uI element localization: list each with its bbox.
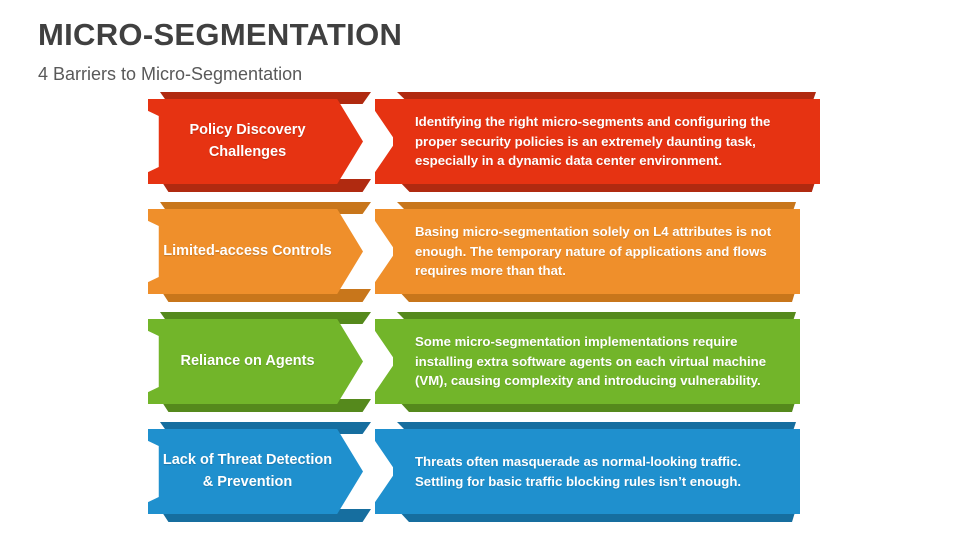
barrier-row: Lack of Threat Detection & PreventionThr…: [0, 421, 960, 531]
barrier-label-block[interactable]: Limited-access Controls: [148, 209, 363, 294]
barrier-description-text: Identifying the right micro-segments and…: [403, 112, 820, 171]
barrier-description-text: Threats often masquerade as normal-looki…: [403, 452, 800, 492]
chevron-notch-icon: [375, 209, 405, 294]
barrier-row: Reliance on AgentsSome micro-segmentatio…: [0, 311, 960, 421]
barrier-row: Policy Discovery ChallengesIdentifying t…: [0, 91, 960, 201]
barrier-label-text: Limited-access Controls: [149, 241, 361, 262]
barrier-label-face: Lack of Threat Detection & Prevention: [148, 429, 363, 514]
barrier-label-text: Policy Discovery Challenges: [148, 120, 363, 162]
barrier-description-face: Basing micro-segmentation solely on L4 a…: [403, 209, 800, 294]
chevron-notch-icon: [375, 319, 405, 404]
barrier-rows: Policy Discovery ChallengesIdentifying t…: [0, 91, 960, 531]
barrier-description-block[interactable]: Identifying the right micro-segments and…: [375, 99, 820, 184]
barrier-label-face: Limited-access Controls: [148, 209, 363, 294]
barrier-description-block[interactable]: Basing micro-segmentation solely on L4 a…: [375, 209, 800, 294]
barrier-label-text: Lack of Threat Detection & Prevention: [148, 450, 363, 492]
chevron-notch-icon: [375, 429, 405, 514]
barrier-description-face: Some micro-segmentation implementations …: [403, 319, 800, 404]
barrier-row: Limited-access ControlsBasing micro-segm…: [0, 201, 960, 311]
barrier-description-text: Some micro-segmentation implementations …: [403, 332, 800, 391]
barrier-label-text: Reliance on Agents: [166, 351, 344, 372]
page-title: MICRO-SEGMENTATION: [38, 18, 402, 52]
barrier-label-block[interactable]: Reliance on Agents: [148, 319, 363, 404]
barrier-description-face: Identifying the right micro-segments and…: [403, 99, 820, 184]
barrier-label-face: Reliance on Agents: [148, 319, 363, 404]
barrier-label-block[interactable]: Policy Discovery Challenges: [148, 99, 363, 184]
page-subtitle: 4 Barriers to Micro-Segmentation: [38, 64, 402, 85]
barrier-description-face: Threats often masquerade as normal-looki…: [403, 429, 800, 514]
chevron-notch-icon: [375, 99, 405, 184]
barrier-label-face: Policy Discovery Challenges: [148, 99, 363, 184]
barrier-description-block[interactable]: Threats often masquerade as normal-looki…: [375, 429, 800, 514]
barrier-label-block[interactable]: Lack of Threat Detection & Prevention: [148, 429, 363, 514]
barrier-description-block[interactable]: Some micro-segmentation implementations …: [375, 319, 800, 404]
slide-header: MICRO-SEGMENTATION 4 Barriers to Micro-S…: [38, 18, 402, 85]
slide-canvas: MICRO-SEGMENTATION 4 Barriers to Micro-S…: [0, 0, 960, 540]
barrier-description-text: Basing micro-segmentation solely on L4 a…: [403, 222, 800, 281]
